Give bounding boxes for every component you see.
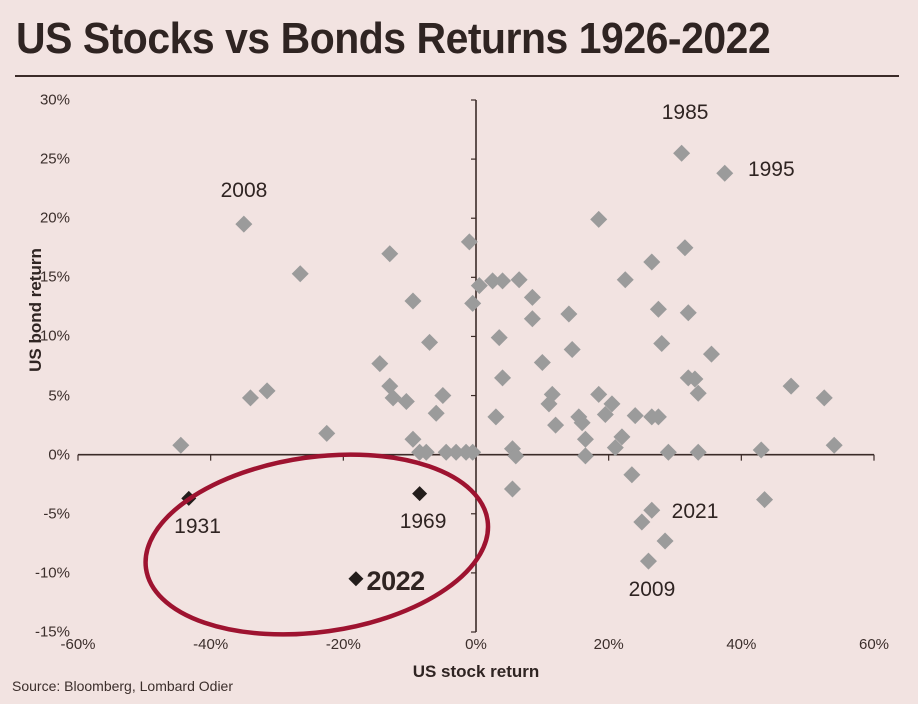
annotation-label-2022: 2022 — [367, 566, 425, 597]
data-point-marker — [703, 346, 720, 363]
data-point-marker — [690, 444, 707, 461]
data-point-marker — [428, 405, 445, 422]
data-point-marker — [292, 265, 309, 282]
highlight-ellipse — [134, 434, 500, 655]
data-point-marker — [494, 369, 511, 386]
annotation-label-1931: 1931 — [174, 515, 221, 539]
data-point-marker — [381, 245, 398, 262]
data-point-marker — [643, 502, 660, 519]
data-point-marker — [487, 408, 504, 425]
data-point-marker — [756, 491, 773, 508]
chart-container: US Stocks vs Bonds Returns 1926-2022 US … — [0, 0, 918, 704]
data-point-marker — [524, 289, 541, 306]
data-point-marker — [412, 486, 427, 501]
data-point-marker — [534, 354, 551, 371]
data-point-marker — [826, 437, 843, 454]
data-point-marker — [716, 165, 733, 182]
annotation-label-2008: 2008 — [221, 179, 268, 203]
data-point-marker — [318, 425, 335, 442]
annotation-label-2009: 2009 — [629, 578, 676, 602]
data-point-marker — [547, 417, 564, 434]
data-point-marker — [650, 301, 667, 318]
data-point-marker — [617, 271, 634, 288]
data-point-marker — [623, 466, 640, 483]
data-point-marker — [504, 480, 521, 497]
data-point-marker — [653, 335, 670, 352]
data-point-marker — [464, 295, 481, 312]
data-point-marker — [242, 389, 259, 406]
data-point-marker — [564, 341, 581, 358]
data-point-marker — [434, 387, 451, 404]
data-point-marker — [660, 444, 677, 461]
data-point-marker — [590, 386, 607, 403]
data-point-marker — [690, 385, 707, 402]
data-point-marker — [471, 277, 488, 294]
data-point-marker — [560, 305, 577, 322]
data-point-marker — [172, 437, 189, 454]
data-point-marker — [398, 393, 415, 410]
data-point-marker — [633, 514, 650, 531]
data-point-marker — [577, 447, 594, 464]
data-point-marker — [673, 145, 690, 162]
data-point-marker — [385, 389, 402, 406]
data-point-marker — [348, 571, 363, 586]
data-point-marker — [783, 378, 800, 395]
data-point-marker — [627, 407, 644, 424]
annotation-label-2021: 2021 — [672, 500, 719, 524]
data-point-marker — [371, 355, 388, 372]
annotation-label-1969: 1969 — [400, 510, 447, 534]
data-point-marker — [524, 310, 541, 327]
data-point-marker — [816, 389, 833, 406]
data-point-marker — [259, 382, 276, 399]
data-point-marker — [235, 216, 252, 233]
data-point-marker — [491, 329, 508, 346]
data-point-marker — [511, 271, 528, 288]
data-point-marker — [577, 431, 594, 448]
data-point-marker — [421, 334, 438, 351]
data-point-marker — [680, 304, 697, 321]
data-point-marker — [404, 292, 421, 309]
source-note: Source: Bloomberg, Lombard Odier — [12, 678, 233, 694]
annotation-label-1985: 1985 — [662, 101, 709, 125]
data-point-marker — [640, 553, 657, 570]
data-point-marker — [753, 441, 770, 458]
data-point-marker — [657, 532, 674, 549]
data-point-marker — [676, 239, 693, 256]
annotation-label-1995: 1995 — [748, 158, 795, 182]
scatter-plot-canvas — [0, 0, 918, 704]
data-point-marker — [590, 211, 607, 228]
data-point-marker — [381, 378, 398, 395]
data-point-marker — [643, 253, 660, 270]
data-point-marker — [494, 272, 511, 289]
